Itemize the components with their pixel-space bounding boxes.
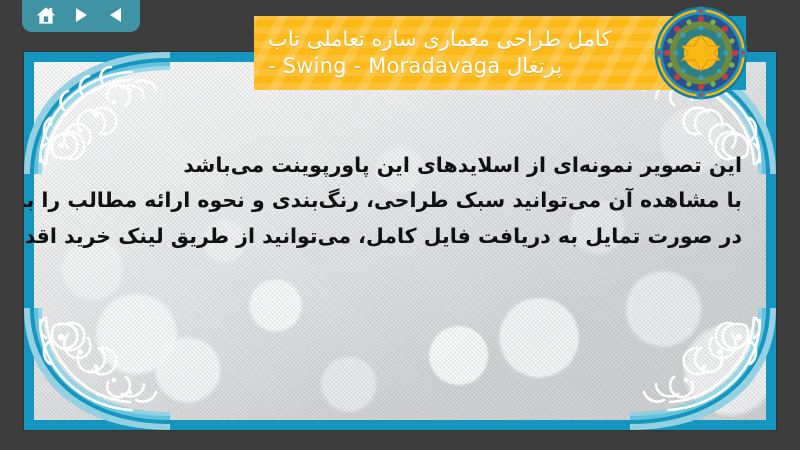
navigation-bar xyxy=(22,0,140,32)
banner-accent-tab xyxy=(720,16,746,90)
slide-viewer: این تصویر نمونه‌ای از اسلایدهای این پاور… xyxy=(0,0,800,450)
slide-title-line-2: پرتغال Swing - Moradavaga - xyxy=(268,53,562,80)
slide-frame: این تصویر نمونه‌ای از اسلایدهای این پاور… xyxy=(24,52,776,430)
next-slide-button[interactable] xyxy=(68,3,94,27)
home-button[interactable] xyxy=(33,3,59,27)
slide-title-banner: کامل طراحی معماری سازه تعاملی تاب پرتغال… xyxy=(254,16,746,90)
triangle-right-icon xyxy=(72,6,90,24)
home-icon xyxy=(36,6,56,25)
body-line-2: با مشاهده آن می‌توانید سبک طراحی، رنگ‌بن… xyxy=(62,183,742,218)
body-line-1: این تصویر نمونه‌ای از اسلایدهای این پاور… xyxy=(62,148,742,183)
banner-body: کامل طراحی معماری سازه تعاملی تاب پرتغال… xyxy=(254,16,720,90)
slide-body-text: این تصویر نمونه‌ای از اسلایدهای این پاور… xyxy=(62,148,742,254)
slide-title-line-1: کامل طراحی معماری سازه تعاملی تاب xyxy=(268,26,611,53)
triangle-left-icon xyxy=(107,6,125,24)
previous-slide-button[interactable] xyxy=(103,3,129,27)
body-line-3: در صورت تمایل به دریافت فایل کامل، می‌تو… xyxy=(62,219,742,254)
